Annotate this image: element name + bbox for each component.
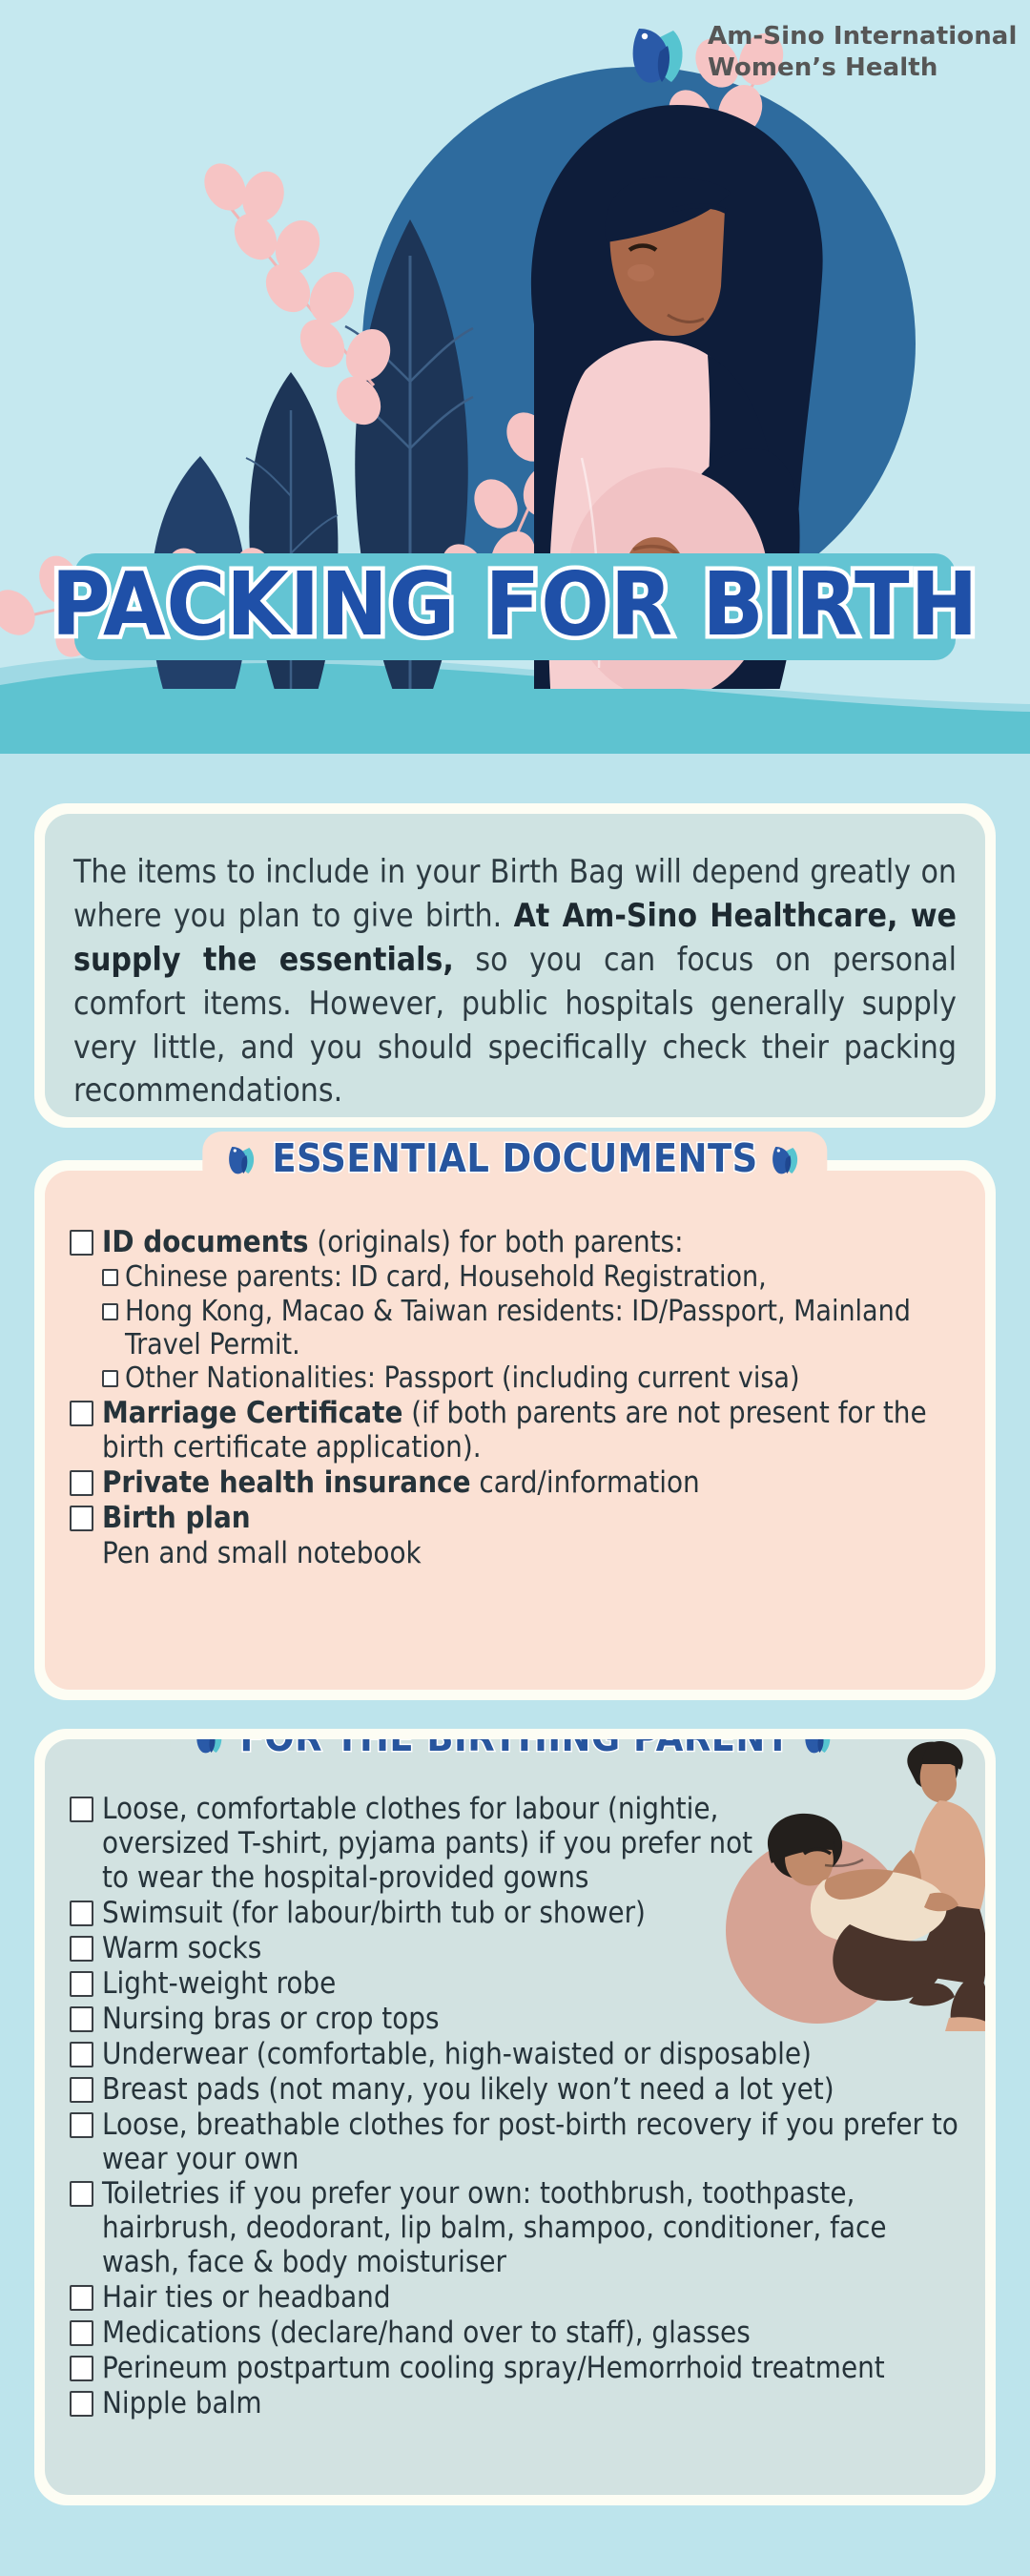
checklist-item[interactable]: Other Nationalities: Passport (including…: [70, 1362, 960, 1396]
checklist-item[interactable]: Warm socks: [70, 1932, 823, 1966]
checkbox[interactable]: [70, 2112, 93, 2138]
checklist-item[interactable]: Pen and small notebook: [70, 1537, 960, 1571]
checklist-item-label-bold: ID documents: [102, 1225, 309, 1259]
checkbox[interactable]: [70, 1230, 93, 1256]
checklist-item[interactable]: Swimsuit (for labour/birth tub or shower…: [70, 1897, 823, 1931]
checklist-item[interactable]: Loose, comfortable clothes for labour (n…: [70, 1793, 780, 1896]
brand-name: Am-Sino International Women’s Health: [708, 21, 1017, 85]
checklist-item[interactable]: Nursing bras or crop tops: [70, 2003, 823, 2037]
checklist-item[interactable]: Medications (declare/hand over to staff)…: [70, 2316, 960, 2351]
checklist-item[interactable]: Underwear (comfortable, high-waisted or …: [70, 2038, 960, 2072]
checklist-item-label: Warm socks: [102, 1932, 823, 1966]
checklist-item-label: Nursing bras or crop tops: [102, 2003, 823, 2037]
leaf-petal-icon-left: [196, 1739, 227, 1755]
leaf-petal-logo-icon: [629, 17, 692, 88]
page-title: PACKING FOR BIRTH: [0, 551, 1030, 658]
checklist-item-label: Birth plan: [102, 1502, 960, 1536]
leaf-petal-icon-right: [772, 1141, 803, 1176]
essential-documents-card-inner: ESSENTIAL DOCUMENTS ID documents (origin…: [45, 1171, 985, 1690]
checklist-item-label: Loose, comfortable clothes for labour (n…: [102, 1793, 780, 1896]
checklist-item-label: Breast pads (not many, you likely won’t …: [102, 2073, 960, 2108]
checklist-item-label: Swimsuit (for labour/birth tub or shower…: [102, 1897, 823, 1931]
checklist-item-label: Chinese parents: ID card, Household Regi…: [125, 1261, 960, 1295]
checklist-item-label-bold: Marriage Certificate: [102, 1396, 402, 1430]
essential-documents-header: ESSENTIAL DOCUMENTS: [202, 1132, 827, 1188]
checklist-item-label: Light-weight robe: [102, 1967, 823, 2002]
checklist-item[interactable]: ID documents (originals) for both parent…: [70, 1226, 960, 1260]
checklist-item[interactable]: Loose, breathable clothes for post-birth…: [70, 2109, 960, 2177]
checkbox[interactable]: [70, 1470, 93, 1496]
checkbox[interactable]: [70, 2320, 93, 2346]
checkbox[interactable]: [70, 1506, 93, 1531]
checklist-item[interactable]: Hair ties or headband: [70, 2281, 960, 2316]
checkbox[interactable]: [70, 2356, 93, 2381]
checkbox[interactable]: [102, 1269, 118, 1286]
checklist-item[interactable]: Marriage Certificate (if both parents ar…: [70, 1397, 960, 1465]
brand-logo: Am-Sino International Women’s Health: [629, 17, 1017, 88]
checklist-item-label: Other Nationalities: Passport (including…: [125, 1362, 960, 1396]
checkbox[interactable]: [70, 2181, 93, 2207]
checklist-item-label: Pen and small notebook: [102, 1537, 960, 1571]
checklist-item-label-bold: Private health insurance: [102, 1465, 471, 1500]
leaf-petal-icon-left: [227, 1141, 258, 1176]
checkbox[interactable]: [70, 2006, 93, 2032]
essential-documents-title: ESSENTIAL DOCUMENTS: [272, 1139, 757, 1178]
checkbox[interactable]: [70, 1797, 93, 1822]
checkbox[interactable]: [70, 2391, 93, 2417]
intro-card: The items to include in your Birth Bag w…: [34, 803, 996, 1128]
checklist-item[interactable]: Perineum postpartum cooling spray/Hemorr…: [70, 2352, 960, 2386]
checklist-item[interactable]: Birth plan: [70, 1502, 960, 1536]
brand-name-line-1: Am-Sino International: [708, 21, 1017, 52]
checkbox[interactable]: [70, 1971, 93, 1997]
checklist-item[interactable]: Chinese parents: ID card, Household Regi…: [70, 1261, 960, 1295]
checklist-item-label: Marriage Certificate (if both parents ar…: [102, 1397, 960, 1465]
checkbox[interactable]: [70, 2042, 93, 2067]
checklist-item-label: Hong Kong, Macao & Taiwan residents: ID/…: [125, 1296, 960, 1362]
checklist-item[interactable]: Light-weight robe: [70, 1967, 823, 2002]
checklist-item-label: ID documents (originals) for both parent…: [102, 1226, 960, 1260]
checklist-item-label: Medications (declare/hand over to staff)…: [102, 2316, 960, 2351]
checklist-item-label: Underwear (comfortable, high-waisted or …: [102, 2038, 960, 2072]
checklist-item-label: Perineum postpartum cooling spray/Hemorr…: [102, 2352, 960, 2386]
checklist-item[interactable]: Breast pads (not many, you likely won’t …: [70, 2073, 960, 2108]
essential-documents-card: ESSENTIAL DOCUMENTS ID documents (origin…: [34, 1160, 996, 1700]
birthing-parent-card-inner: FOR THE BIRTHING PARENT: [45, 1739, 985, 2495]
brand-name-line-2: Women’s Health: [708, 52, 1017, 84]
birthing-parent-card: FOR THE BIRTHING PARENT: [34, 1729, 996, 2505]
checkbox[interactable]: [70, 1901, 93, 1926]
checklist-item[interactable]: Nipple balm: [70, 2387, 960, 2421]
checklist-item-label-bold: Birth plan: [102, 1501, 251, 1535]
checkbox[interactable]: [70, 1936, 93, 1962]
essential-documents-list: ID documents (originals) for both parent…: [70, 1226, 960, 1571]
intro-card-inner: The items to include in your Birth Bag w…: [45, 814, 985, 1117]
checklist-item-label: Private health insurance card/informatio…: [102, 1466, 960, 1501]
checklist-item-label: Loose, breathable clothes for post-birth…: [102, 2109, 960, 2177]
checkbox[interactable]: [70, 1401, 93, 1426]
checkbox[interactable]: [70, 2285, 93, 2311]
hero-section: Am-Sino International Women’s Health PAC…: [0, 0, 1030, 754]
checkbox[interactable]: [102, 1303, 118, 1320]
checklist-item[interactable]: Hong Kong, Macao & Taiwan residents: ID/…: [70, 1296, 960, 1362]
checkbox[interactable]: [70, 2077, 93, 2103]
checklist-item[interactable]: Private health insurance card/informatio…: [70, 1466, 960, 1501]
checklist-item-label: Toiletries if you prefer your own: tooth…: [102, 2177, 960, 2280]
checklist-item-label: Nipple balm: [102, 2387, 960, 2421]
checklist-item-label: Hair ties or headband: [102, 2281, 960, 2316]
checklist-item[interactable]: Toiletries if you prefer your own: tooth…: [70, 2177, 960, 2280]
intro-paragraph: The items to include in your Birth Bag w…: [73, 850, 957, 1112]
checkbox[interactable]: [102, 1370, 118, 1387]
